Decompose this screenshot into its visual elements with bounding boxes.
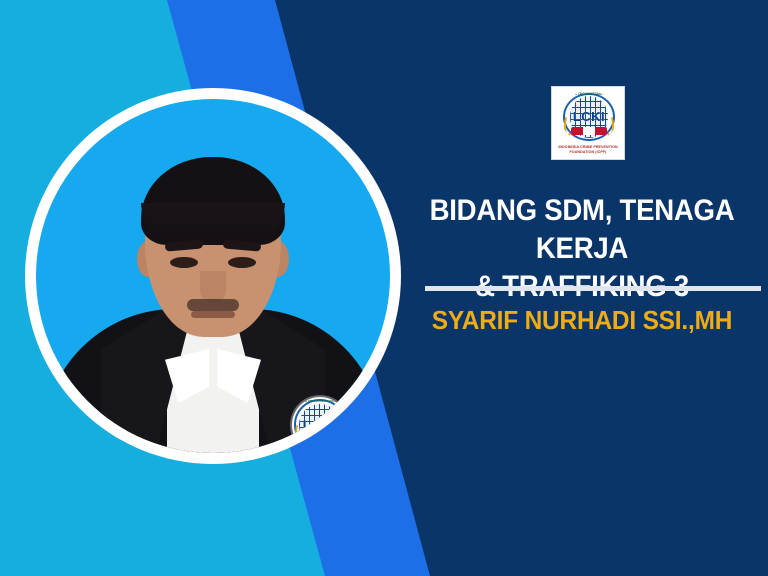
lcki-emblem-icon: LEMBAGA CEGAH KEJAHATAN INDONESIA LCKI (561, 91, 617, 143)
title-divider (425, 286, 761, 291)
eye-left (170, 257, 198, 268)
organisation-logo: LEMBAGA CEGAH KEJAHATAN INDONESIA LCKI I… (551, 86, 625, 160)
person-name: SYARIF NURHADI SSI.,MH (407, 304, 757, 336)
emblem-arc-text: LEMBAGA CEGAH KEJAHATAN INDONESIA (561, 92, 617, 96)
ribbon (571, 127, 607, 134)
emblem-acronym: LCKI (561, 109, 617, 124)
mouth (191, 311, 235, 318)
logo-caption-line2: FOUNDATION (ICPF) (554, 150, 622, 155)
badge-acronym: LCKI (292, 417, 348, 433)
eye-right (228, 257, 256, 268)
badge-arc-text: LEMBAGA CEGAH KEJAHATAN INDONESIA (292, 399, 348, 403)
ribbon (302, 436, 338, 444)
logo-caption: INDONESIA CRIME PREVENTION FOUNDATION (I… (554, 145, 622, 155)
portrait-circle-frame: LEMBAGA CEGAH KEJAHATAN INDONESIA LCKI (25, 88, 401, 464)
hair-shadow (141, 203, 285, 243)
profile-card: LEMBAGA CEGAH KEJAHATAN INDONESIA LCKI L… (0, 0, 768, 576)
card-title-line1: BIDANG SDM, TENAGA KERJA (411, 192, 753, 268)
lapel-lcki-badge-icon: LEMBAGA CEGAH KEJAHATAN INDONESIA LCKI (292, 397, 348, 453)
portrait-photo: LEMBAGA CEGAH KEJAHATAN INDONESIA LCKI (36, 99, 390, 453)
person-illustration: LEMBAGA CEGAH KEJAHATAN INDONESIA LCKI (36, 99, 390, 453)
moustache (187, 299, 239, 311)
